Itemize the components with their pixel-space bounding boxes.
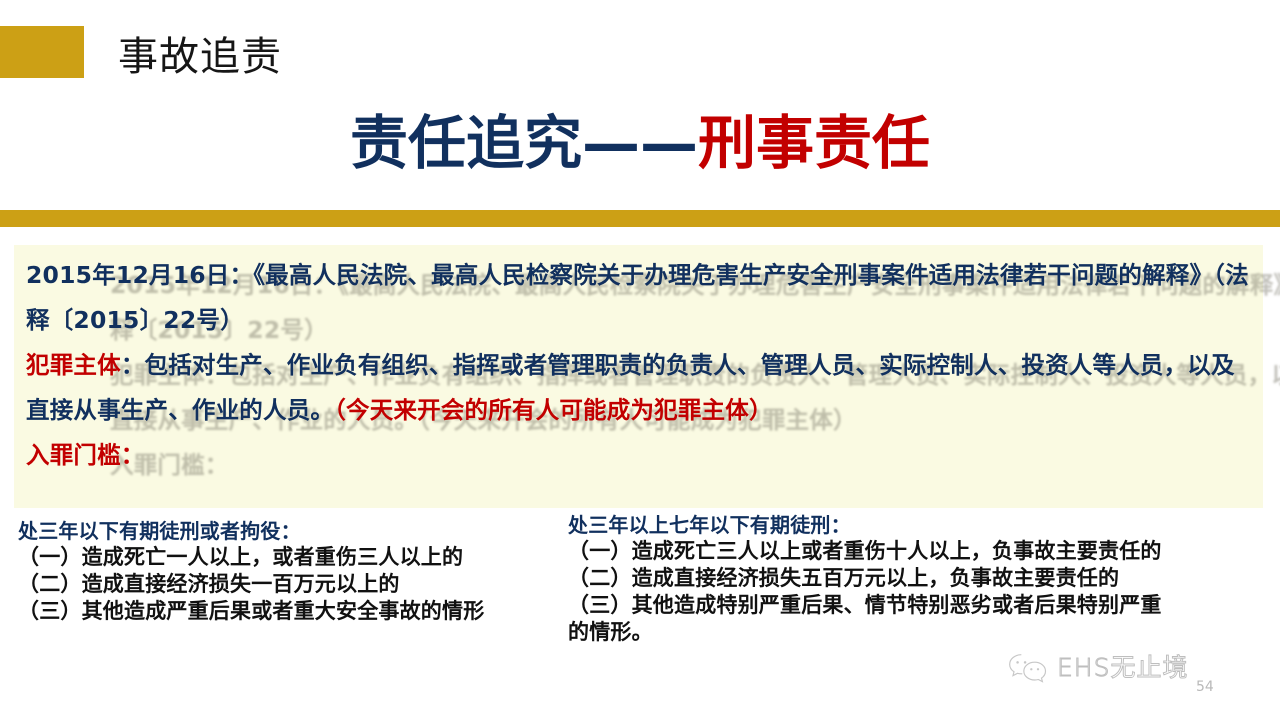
- content-panel: 2015年12月16日：《最高人民法院、最高人民检察院关于办理危害生产安全刑事案…: [14, 245, 1263, 508]
- section-label: 事故追责: [118, 33, 282, 81]
- penalty-right-item-3: （三）其他造成特别严重后果、情节特别恶劣或者后果特别严重的情形。: [568, 592, 1168, 646]
- slide-canvas: 事故追责 责任追究——刑事责任 2015年12月16日：《最高人民法院、最高人民…: [0, 0, 1280, 720]
- watermark-text: EHS无止境: [1057, 653, 1188, 683]
- penalty-right-item-2: （二）造成直接经济损失五百万元以上，负事故主要责任的: [568, 565, 1168, 592]
- penalty-left-heading: 处三年以下有期徒刑或者拘役：: [18, 518, 563, 544]
- penalty-column-left: 处三年以下有期徒刑或者拘役： （一）造成死亡一人以上，或者重伤三人以上的 （二）…: [18, 518, 563, 625]
- wechat-icon: [1008, 652, 1048, 684]
- paragraph-citation-text: 2015年12月16日：《最高人民法院、最高人民检察院关于办理危害生产安全刑事案…: [26, 261, 1249, 334]
- subject-label: 犯罪主体: [26, 351, 121, 379]
- page-title-red: 刑事责任: [698, 109, 930, 177]
- paragraph-citation: 2015年12月16日：《最高人民法院、最高人民检察院关于办理危害生产安全刑事案…: [26, 253, 1258, 343]
- paragraph-threshold-ghost: 入罪门槛：: [110, 443, 1280, 488]
- page-title: 责任追究——刑事责任: [0, 105, 1280, 181]
- paragraph-subject: 犯罪主体：包括对生产、作业负有组织、指挥或者管理职责的负责人、管理人员、实际控制…: [26, 343, 1258, 433]
- paragraph-threshold-text: 入罪门槛：: [26, 441, 145, 469]
- paragraph-subject-text: 犯罪主体：包括对生产、作业负有组织、指挥或者管理职责的负责人、管理人员、实际控制…: [26, 351, 1235, 424]
- header-accent-block: [0, 26, 84, 78]
- paragraph-threshold: 入罪门槛： 入罪门槛：: [26, 433, 1258, 478]
- penalty-column-right: 处三年以上七年以下有期徒刑： （一）造成死亡三人以上或者重伤十人以上，负事故主要…: [568, 512, 1168, 646]
- paragraph-stack: 2015年12月16日：《最高人民法院、最高人民检察院关于办理危害生产安全刑事案…: [26, 253, 1258, 478]
- subject-note: （今天来开会的所有人可能成为犯罪主体）: [334, 396, 773, 424]
- page-number: 54: [1196, 679, 1214, 695]
- penalty-left-item-3: （三）其他造成严重后果或者重大安全事故的情形: [18, 598, 563, 625]
- page-title-blue: 责任追究——: [350, 109, 698, 177]
- watermark: EHS无止境: [1008, 652, 1188, 684]
- gold-divider: [0, 210, 1280, 227]
- penalty-left-item-2: （二）造成直接经济损失一百万元以上的: [18, 571, 563, 598]
- penalty-left-item-1: （一）造成死亡一人以上，或者重伤三人以上的: [18, 544, 563, 571]
- penalty-right-heading: 处三年以上七年以下有期徒刑：: [568, 512, 1168, 538]
- penalty-right-item-1: （一）造成死亡三人以上或者重伤十人以上，负事故主要责任的: [568, 538, 1168, 565]
